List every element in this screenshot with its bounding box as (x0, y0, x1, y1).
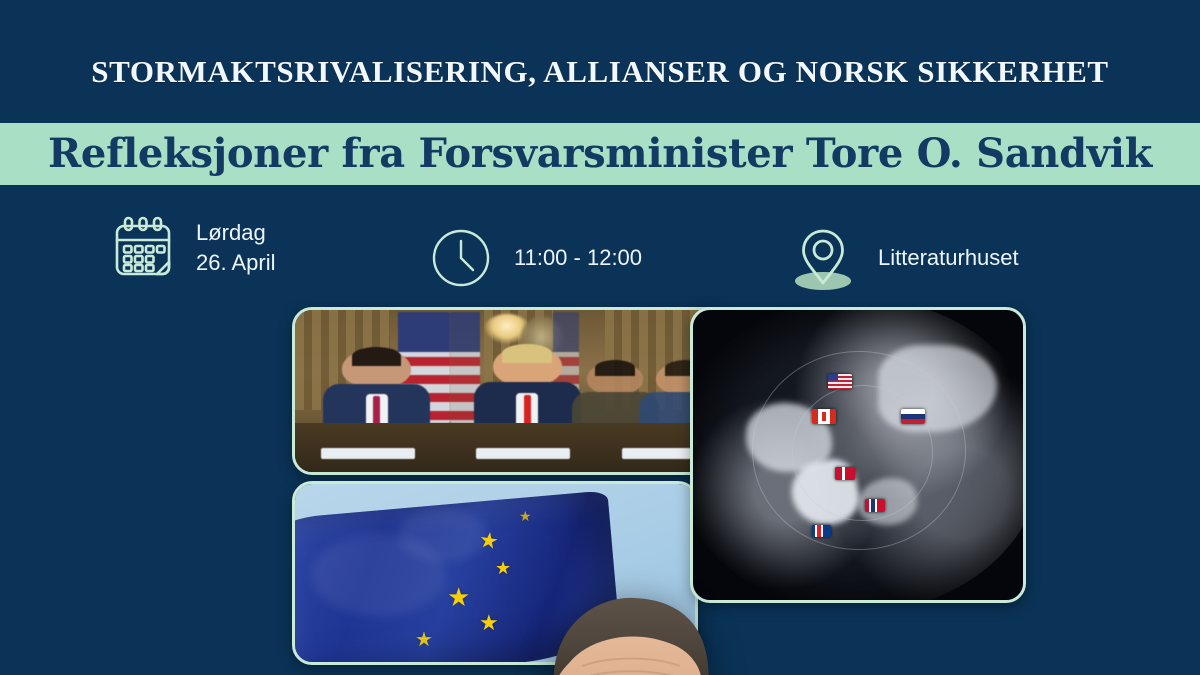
calendar-icon (112, 215, 174, 281)
photo-cabinet-meeting (292, 307, 728, 475)
event-date-item: Lørdag 26. April (112, 215, 276, 281)
location-pin-icon (790, 223, 856, 293)
event-date-day: Lørdag (196, 220, 266, 245)
image-collage: ★ ★ ★ ★ ★ ★ (0, 285, 1200, 675)
event-time-text: 11:00 - 12:00 (514, 243, 642, 273)
event-venue-text: Litteraturhuset (878, 243, 1019, 273)
map-flag-canada (812, 409, 836, 424)
event-date-date: 26. April (196, 248, 276, 278)
clock-icon (430, 227, 492, 289)
event-venue-item: Litteraturhuset (790, 223, 1019, 293)
photo-arctic-map (690, 307, 1026, 603)
event-time-item: 11:00 - 12:00 (430, 227, 642, 289)
map-flag-russia (901, 409, 925, 424)
page-title: Refleksjoner fra Forsvarsminister Tore O… (48, 134, 1152, 174)
map-flag-iceland (812, 525, 831, 537)
event-poster: STORMAKTSRIVALISERING, ALLIANSER OG NORS… (0, 0, 1200, 675)
map-flag-united-states (828, 374, 852, 389)
map-flag-norway (865, 499, 885, 512)
title-banner: Refleksjoner fra Forsvarsminister Tore O… (0, 123, 1200, 185)
event-date-text: Lørdag 26. April (196, 218, 276, 277)
page-kicker: STORMAKTSRIVALISERING, ALLIANSER OG NORS… (0, 54, 1200, 90)
speaker-portrait (400, 570, 860, 675)
map-flag-denmark (835, 467, 855, 480)
